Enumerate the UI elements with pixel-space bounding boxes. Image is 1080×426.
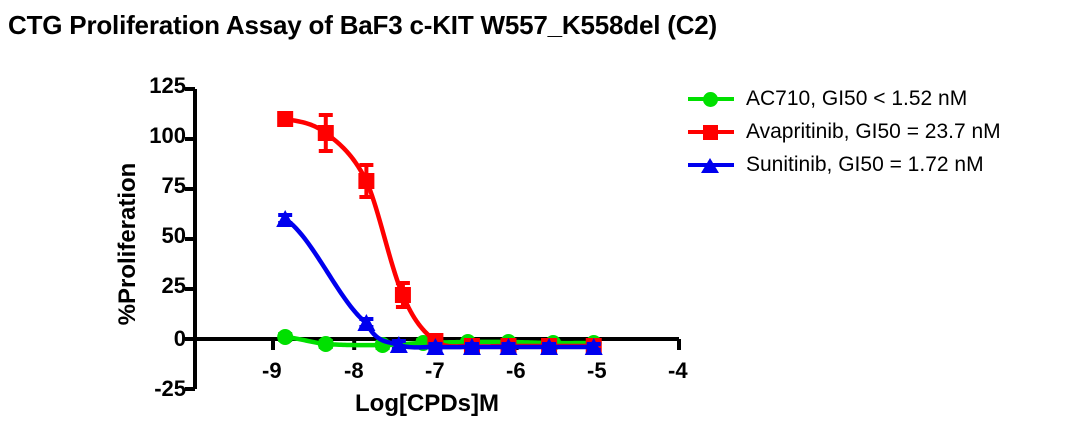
y-tick-label-75: 75 bbox=[162, 173, 186, 199]
y-axis-title: %Proliferation bbox=[114, 144, 142, 344]
data-point bbox=[358, 173, 374, 189]
y-tick-label-25: 25 bbox=[162, 273, 186, 299]
legend-label-ac710: AC710, GI50 < 1.52 nM bbox=[746, 87, 967, 111]
y-tick-label-100: 100 bbox=[149, 123, 186, 149]
x-tick-label--5: -5 bbox=[587, 358, 607, 384]
legend-swatch-circle-icon bbox=[688, 88, 734, 110]
x-tick-label--4: -4 bbox=[668, 358, 688, 384]
data-point bbox=[318, 125, 334, 141]
x-tick-label--6: -6 bbox=[506, 358, 526, 384]
legend-label-sunitinib: Sunitinib, GI50 = 1.72 nM bbox=[746, 153, 984, 177]
legend-label-avapritinib: Avapritinib, GI50 = 23.7 nM bbox=[746, 120, 1001, 144]
legend-item-sunitinib[interactable]: Sunitinib, GI50 = 1.72 nM bbox=[688, 148, 1068, 181]
legend-swatch-square-icon bbox=[688, 121, 734, 143]
y-tick-label-0: 0 bbox=[174, 326, 186, 352]
chart-page: CTG Proliferation Assay of BaF3 c-KIT W5… bbox=[0, 0, 1080, 426]
x-axis-title: Log[CPDs]M bbox=[355, 390, 499, 418]
data-point bbox=[276, 210, 294, 227]
x-tick-label--7: -7 bbox=[425, 358, 445, 384]
y-tick-label--25: -25 bbox=[154, 376, 186, 402]
data-point bbox=[277, 329, 293, 345]
y-tick-label-50: 50 bbox=[162, 223, 186, 249]
plot-canvas bbox=[0, 0, 1080, 426]
series-avapritinib bbox=[277, 111, 602, 354]
series-group bbox=[276, 111, 603, 355]
legend-item-ac710[interactable]: AC710, GI50 < 1.52 nM bbox=[688, 82, 1068, 115]
series-line bbox=[285, 219, 594, 347]
legend-item-avapritinib[interactable]: Avapritinib, GI50 = 23.7 nM bbox=[688, 115, 1068, 148]
legend-swatch-triangle-icon bbox=[688, 154, 734, 176]
data-point bbox=[318, 336, 334, 352]
data-point bbox=[395, 287, 411, 303]
x-tick-label--8: -8 bbox=[344, 358, 364, 384]
x-tick-label--9: -9 bbox=[262, 358, 282, 384]
series-line bbox=[285, 119, 594, 346]
data-point bbox=[277, 111, 293, 127]
legend: AC710, GI50 < 1.52 nM Avapritinib, GI50 … bbox=[688, 82, 1068, 181]
y-tick-label-125: 125 bbox=[149, 73, 186, 99]
